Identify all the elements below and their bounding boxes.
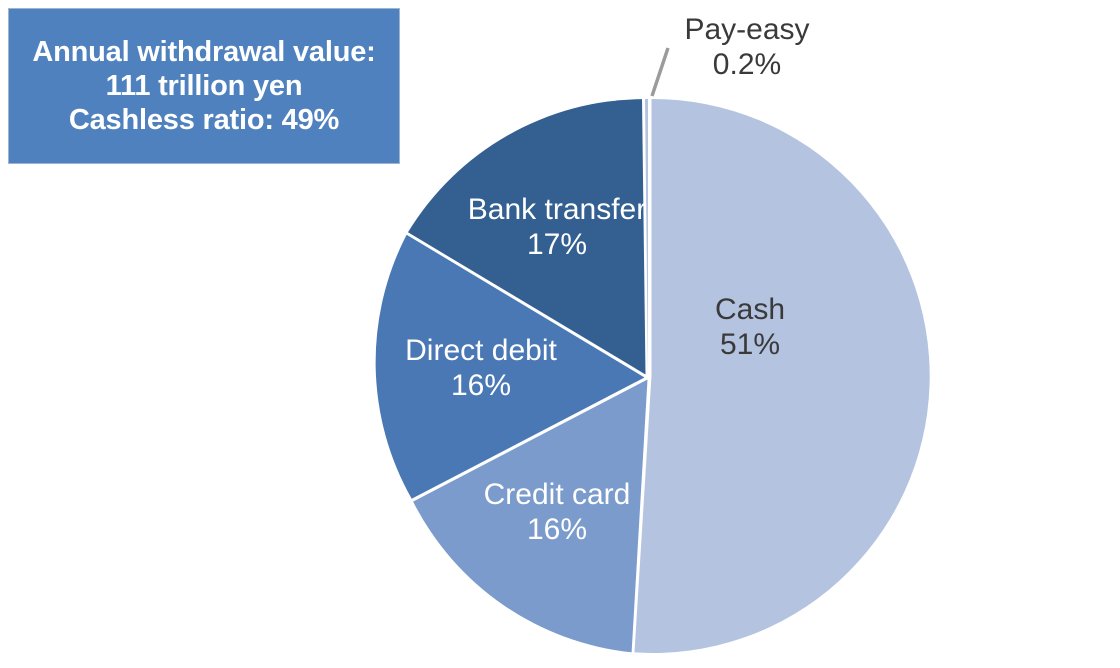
pie-slice-cash[interactable] xyxy=(635,99,930,653)
pie-chart-figure: Annual withdrawal value: 111 trillion ye… xyxy=(0,0,1120,668)
pay-easy-callout-line xyxy=(652,48,668,96)
pie-chart-graphic xyxy=(0,0,1120,668)
pie-slice-pay-easy[interactable] xyxy=(645,99,648,376)
